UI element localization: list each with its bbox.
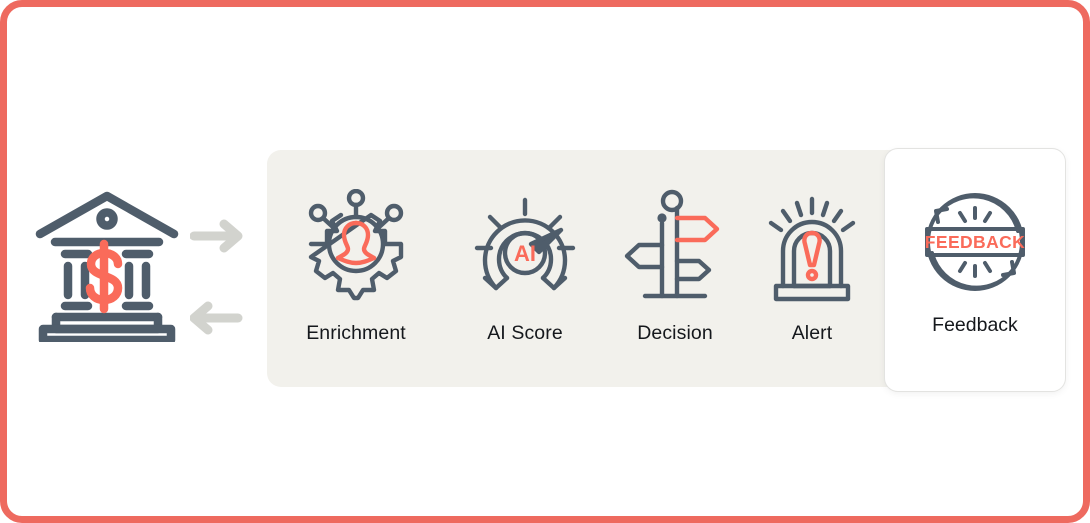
arrow-right-icon: [190, 218, 252, 254]
flow-step-label: Alert: [792, 322, 833, 345]
flow-step-label: Enrichment: [306, 322, 406, 345]
gear-user-network-icon: [296, 188, 416, 306]
flow-arrows: [190, 218, 252, 334]
flow-step-enrichment[interactable]: Enrichment: [281, 188, 431, 353]
flow-step-feedback-card[interactable]: FEEDBACK Feedback: [884, 148, 1066, 392]
pipeline-panel: Enrichment: [267, 150, 973, 387]
siren-alert-icon: [752, 188, 872, 306]
gauge-ai-text: AI: [514, 241, 536, 266]
bank-dollar-icon: [28, 182, 186, 342]
flow-step-label: Decision: [637, 322, 713, 345]
flow-step-decision[interactable]: Decision: [600, 188, 750, 353]
gauge-ai-icon: AI: [465, 188, 585, 306]
flow-step-ai-score[interactable]: AI AI Score: [450, 188, 600, 353]
feedback-stamp-icon: FEEDBACK: [912, 184, 1038, 300]
diagram-canvas: Enrichment: [0, 0, 1090, 523]
arrow-left-icon: [190, 300, 252, 336]
feedback-stamp-text: FEEDBACK: [925, 232, 1025, 252]
signpost-icon: [615, 188, 735, 306]
flow-step-label: Feedback: [932, 314, 1018, 337]
flow-step-label: AI Score: [487, 322, 563, 345]
flow-step-alert[interactable]: Alert: [737, 188, 887, 353]
